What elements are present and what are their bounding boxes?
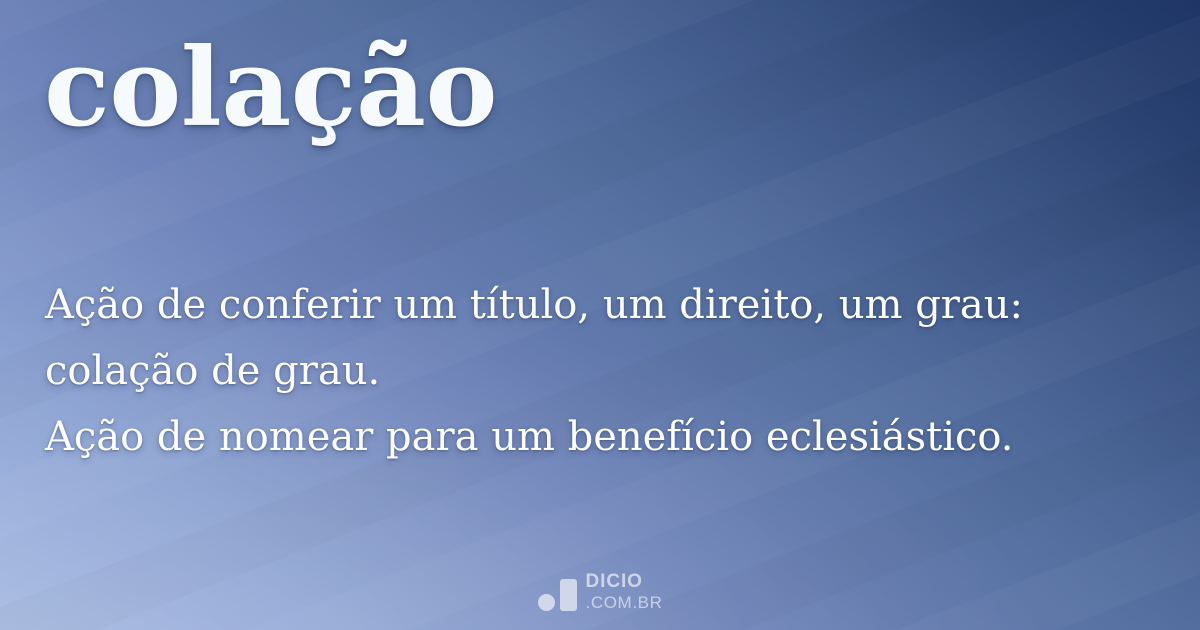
definition-card: colação Ação de conferir um título, um d…	[0, 0, 1200, 630]
dicio-logo[interactable]: DICIO .COM.BR	[0, 572, 1200, 612]
logo-mark	[538, 578, 577, 612]
definition-line: colação de grau.	[45, 338, 1165, 404]
definition-line: Ação de conferir um título, um direito, …	[45, 272, 1165, 338]
logo-name: DICIO	[586, 572, 663, 591]
definition-list: Ação de conferir um título, um direito, …	[45, 272, 1165, 470]
headword-title: colação	[44, 28, 497, 149]
definition-line: Ação de nomear para um benefício eclesiá…	[45, 404, 1165, 470]
logo-tld: .COM.BR	[586, 594, 663, 611]
rounded-bar-icon	[560, 579, 577, 611]
logo-wordmark: DICIO .COM.BR	[586, 572, 663, 612]
circle-icon	[538, 594, 555, 611]
card-content: colação Ação de conferir um título, um d…	[0, 0, 1200, 630]
